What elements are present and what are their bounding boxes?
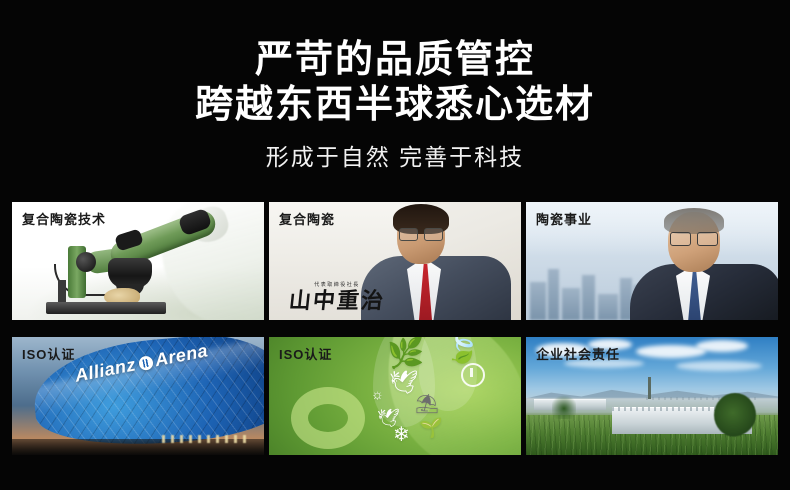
calligraphy-title: 代表取締役社長 xyxy=(285,281,389,288)
leaf-icon: 🌿 xyxy=(387,339,424,369)
tile-label: 企业社会责任 xyxy=(536,344,620,363)
tile-label: 复合陶瓷 xyxy=(279,209,335,228)
tile-composite-ceramic-technology[interactable]: 复合陶瓷技术 xyxy=(12,202,264,320)
calligraphy-signature: 代表取締役社長 山中重治 xyxy=(285,281,389,314)
power-bolt-icon xyxy=(461,363,485,387)
tile-label: ISO认证 xyxy=(279,344,332,363)
tile-corporate-social-responsibility[interactable]: 企业社会责任 xyxy=(526,337,778,455)
headline-block: 严苛的品质管控 跨越东西半球悉心选材 形成于自然 完善于科技 xyxy=(0,38,790,172)
sun-icon: ☼ xyxy=(371,387,384,401)
tile-label: 复合陶瓷技术 xyxy=(22,209,106,228)
calligraphy-name: 山中重治 xyxy=(284,288,391,314)
promotional-banner: 严苛的品质管控 跨越东西半球悉心选材 形成于自然 完善于科技 xyxy=(0,0,790,490)
plant-icon: 🌱 xyxy=(419,419,443,438)
tile-label: ISO认证 xyxy=(22,344,75,363)
leaf-icon: 🍃 xyxy=(445,337,480,363)
tile-composite-ceramic[interactable]: 代表取締役社長 山中重治 复合陶瓷 xyxy=(269,202,521,320)
tile-ceramic-business[interactable]: 陶瓷事业 xyxy=(526,202,778,320)
headline-line-1: 严苛的品质管控 xyxy=(0,38,790,83)
eco-ring-shape xyxy=(291,387,365,449)
flower-icon: ❄ xyxy=(393,425,410,445)
subheadline: 形成于自然 完善于科技 xyxy=(0,142,790,172)
watering-can-icon: ⛱ xyxy=(415,395,439,414)
headline-line-2: 跨越东西半球悉心选材 xyxy=(0,83,790,128)
feature-tile-grid: 复合陶瓷技术 代表取締役社長 山中重治 复合陶瓷 xyxy=(12,202,778,455)
tile-iso-certification[interactable]: 🌿 🍃 🕊 ☼ 🕊 ⛱ ❄ 🌱 ISO认证 xyxy=(269,337,521,455)
dove-icon: 🕊 xyxy=(389,371,418,394)
tile-label: 陶瓷事业 xyxy=(536,209,592,228)
tile-partner-companies[interactable]: Allianz Arena ISO认证 xyxy=(12,337,264,455)
allianz-emblem-icon xyxy=(137,355,153,371)
